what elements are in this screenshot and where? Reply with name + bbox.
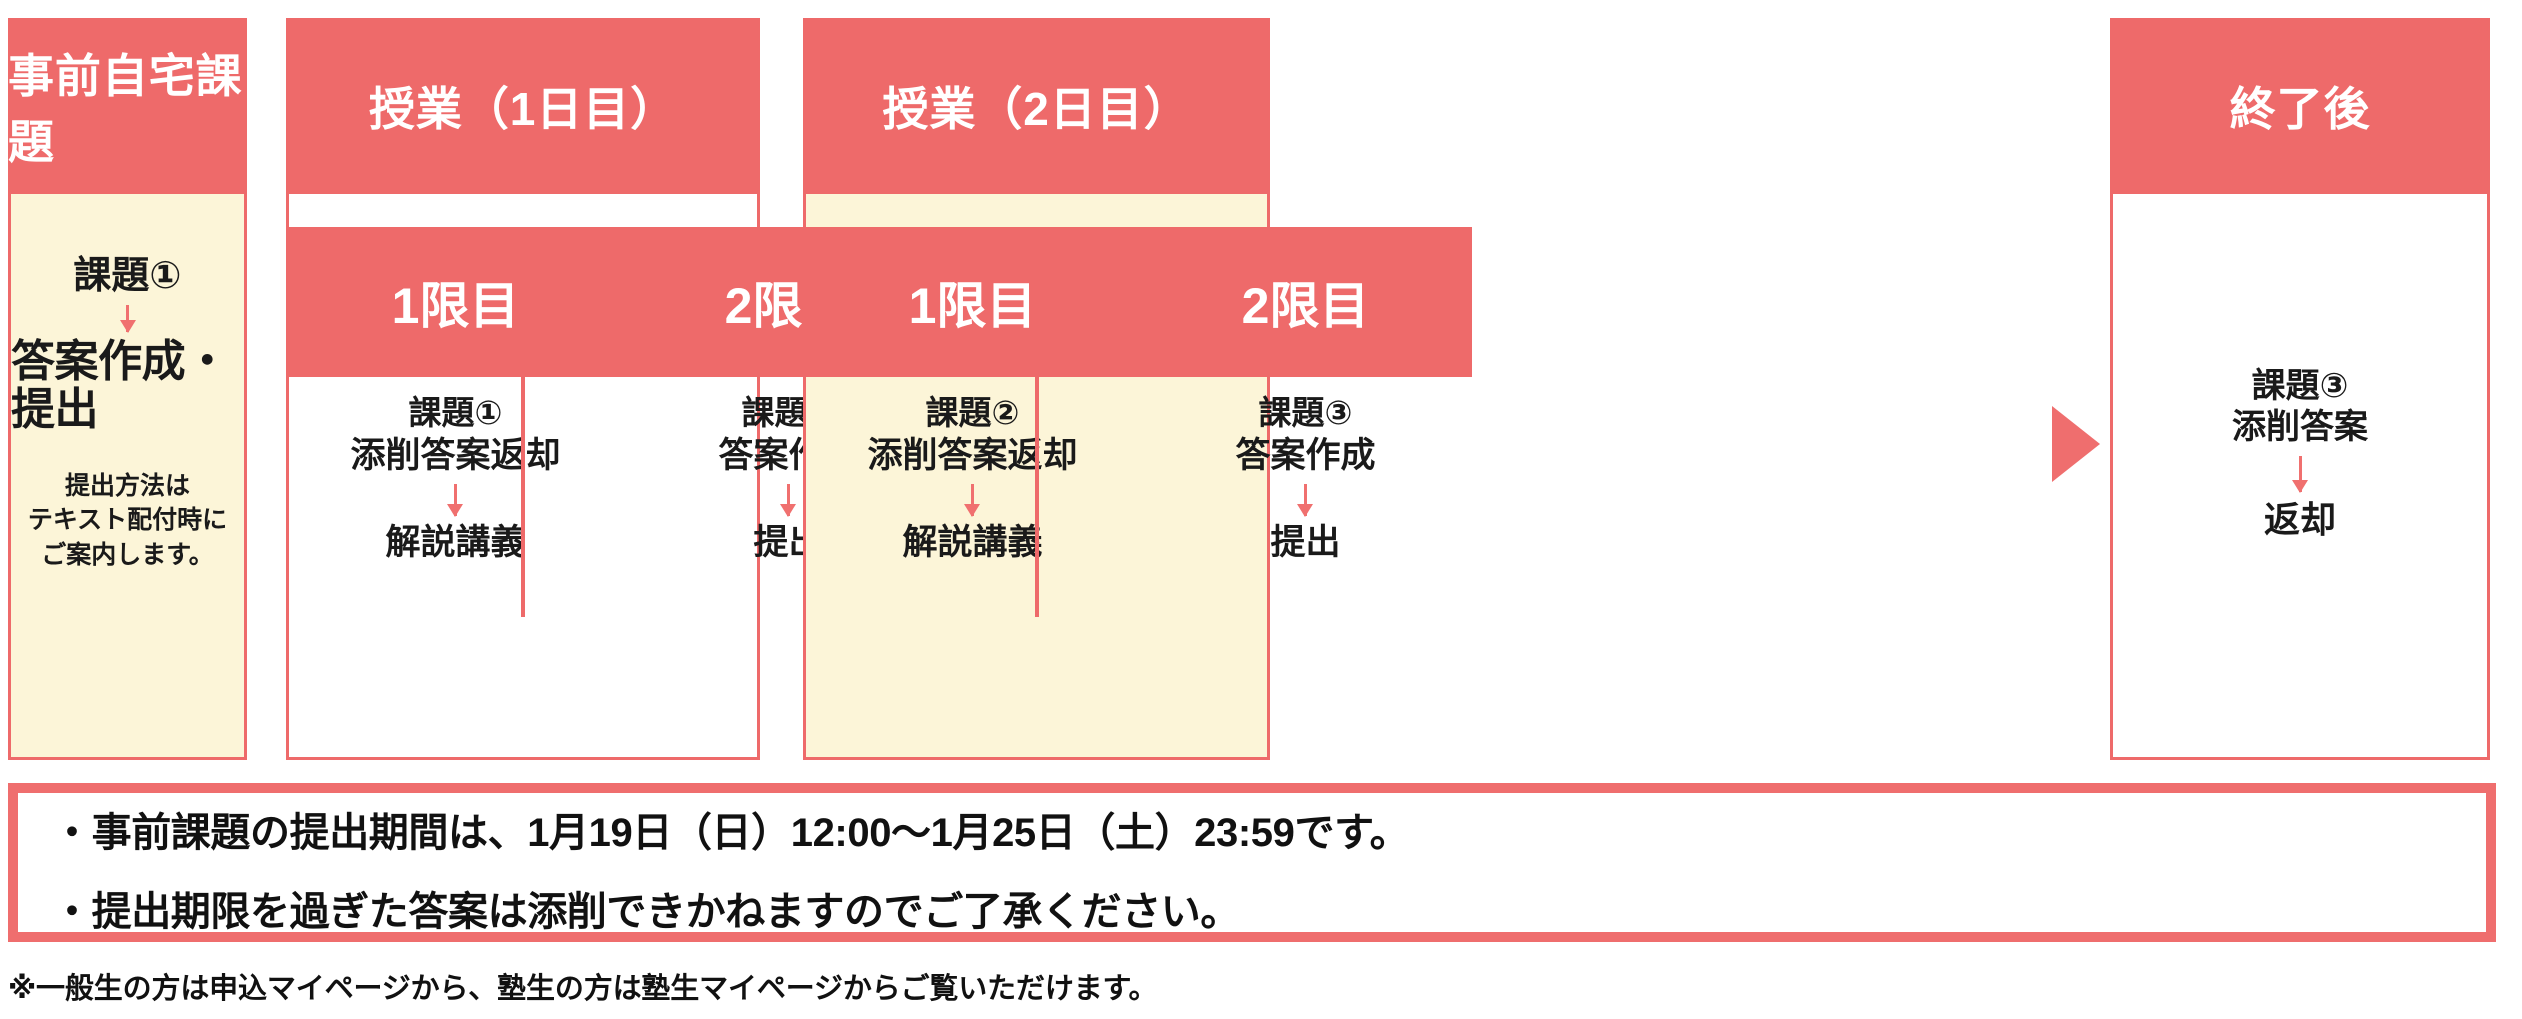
column-header-after-completion: 終了後 <box>2110 18 2490 194</box>
down-arrow-icon <box>126 305 129 332</box>
column-header-class-day1: 授業（1日目） <box>286 18 760 194</box>
down-arrow-icon <box>454 484 457 516</box>
panel-divider <box>521 232 525 617</box>
flow-column-class-day1: 授業（1日目） 1限目 課題① 添削答案返却 解説講義 2限目 <box>286 18 760 760</box>
class-day2-panel-2: 2限目 課題③ 答案作成 提出 <box>1139 227 1472 757</box>
class-day2-panels: 1限目 課題② 添削答案返却 解説講義 2限目 課題③ 答案作成 <box>806 194 1267 757</box>
column-body-class-day1: 1限目 課題① 添削答案返却 解説講義 2限目 課題② 答案作成 <box>286 194 760 760</box>
class-day2-panel-1: 1限目 課題② 添削答案返却 解説講義 <box>806 227 1139 757</box>
flow-arrow-3-icon <box>2052 406 2100 482</box>
column-header-pre-homework: 事前自宅課題 <box>8 18 247 194</box>
slot-label-day2-period1: 1限目 <box>806 227 1139 377</box>
column-body-pre-homework: 課題① 答案作成・提出 提出方法は テキスト配付時に ご案内します。 <box>8 194 247 760</box>
notice-box: ・事前課題の提出期間は、1月19日（日）12:00〜1月25日（土）23:59で… <box>8 783 2496 942</box>
pre-homework-note-line3: ご案内します。 <box>28 538 227 573</box>
pre-homework-note-line1: 提出方法は <box>28 469 227 504</box>
panel-divider <box>1035 232 1039 617</box>
after-completion-content: 課題③ 添削答案 返却 <box>2232 366 2368 541</box>
down-arrow-icon <box>2299 456 2302 492</box>
pre-homework-line2: 答案作成・提出 <box>11 338 244 435</box>
down-arrow-icon <box>1304 484 1307 516</box>
flow-column-pre-homework: 事前自宅課題 課題① 答案作成・提出 提出方法は テキスト配付時に ご案内します… <box>8 18 247 760</box>
column-body-after-completion: 課題③ 添削答案 返却 <box>2110 194 2490 760</box>
day1-p1-line3: 解説講義 <box>385 522 525 564</box>
slot-content-day1-period1: 課題① 添削答案返却 解説講義 <box>350 393 560 564</box>
column-body-class-day2: 1限目 課題② 添削答案返却 解説講義 2限目 課題③ 答案作成 <box>803 194 1270 760</box>
down-arrow-icon <box>787 484 790 516</box>
class-day1-panels: 1限目 課題① 添削答案返却 解説講義 2限目 課題② 答案作成 <box>289 194 757 757</box>
after-completion-line1: 課題③ <box>2252 366 2349 407</box>
flow-row: 事前自宅課題 課題① 答案作成・提出 提出方法は テキスト配付時に ご案内します… <box>0 0 2522 770</box>
day2-p1-line3: 解説講義 <box>902 522 1042 564</box>
down-arrow-icon <box>971 484 974 516</box>
day2-p2-line1: 課題③ <box>1259 393 1353 434</box>
footnote-text: ※一般生の方は申込マイページから、塾生の方は塾生マイページからご覧いただけます。 <box>8 965 1157 1007</box>
after-completion-line2: 添削答案 <box>2232 407 2368 448</box>
flow-column-after-completion: 終了後 課題③ 添削答案 返却 <box>2110 18 2490 760</box>
after-completion-line3: 返却 <box>2264 498 2336 541</box>
day2-p1-line1: 課題② <box>926 393 1020 434</box>
pre-homework-note: 提出方法は テキスト配付時に ご案内します。 <box>28 469 227 573</box>
column-header-class-day2: 授業（2日目） <box>803 18 1270 194</box>
class-day1-panel-1: 1限目 課題① 添削答案返却 解説講義 <box>289 227 622 757</box>
day1-p1-line2: 添削答案返却 <box>350 434 560 477</box>
pre-homework-line1: 課題① <box>73 256 181 298</box>
pre-homework-content: 課題① 答案作成・提出 提出方法は テキスト配付時に ご案内します。 <box>11 256 244 572</box>
day2-p2-line3: 提出 <box>1270 522 1340 564</box>
notice-line-2: ・提出期限を過ぎた答案は添削できかねますのでご了承ください。 <box>52 892 2486 932</box>
slot-label-day2-period2: 2限目 <box>1139 227 1472 377</box>
slot-content-day2-period2: 課題③ 答案作成 提出 <box>1235 393 1375 564</box>
day2-p1-line2: 添削答案返却 <box>867 434 1077 477</box>
slot-content-day2-period1: 課題② 添削答案返却 解説講義 <box>867 393 1077 564</box>
slot-label-day1-period1: 1限目 <box>289 227 622 377</box>
notice-line-1: ・事前課題の提出期間は、1月19日（日）12:00〜1月25日（土）23:59で… <box>52 813 2486 853</box>
flow-column-class-day2: 授業（2日目） 1限目 課題② 添削答案返却 解説講義 2限目 <box>803 18 1270 760</box>
flow-diagram: 事前自宅課題 課題① 答案作成・提出 提出方法は テキスト配付時に ご案内します… <box>0 0 2522 1019</box>
pre-homework-note-line2: テキスト配付時に <box>28 503 227 538</box>
day1-p1-line1: 課題① <box>409 393 503 434</box>
day2-p2-line2: 答案作成 <box>1235 434 1375 477</box>
